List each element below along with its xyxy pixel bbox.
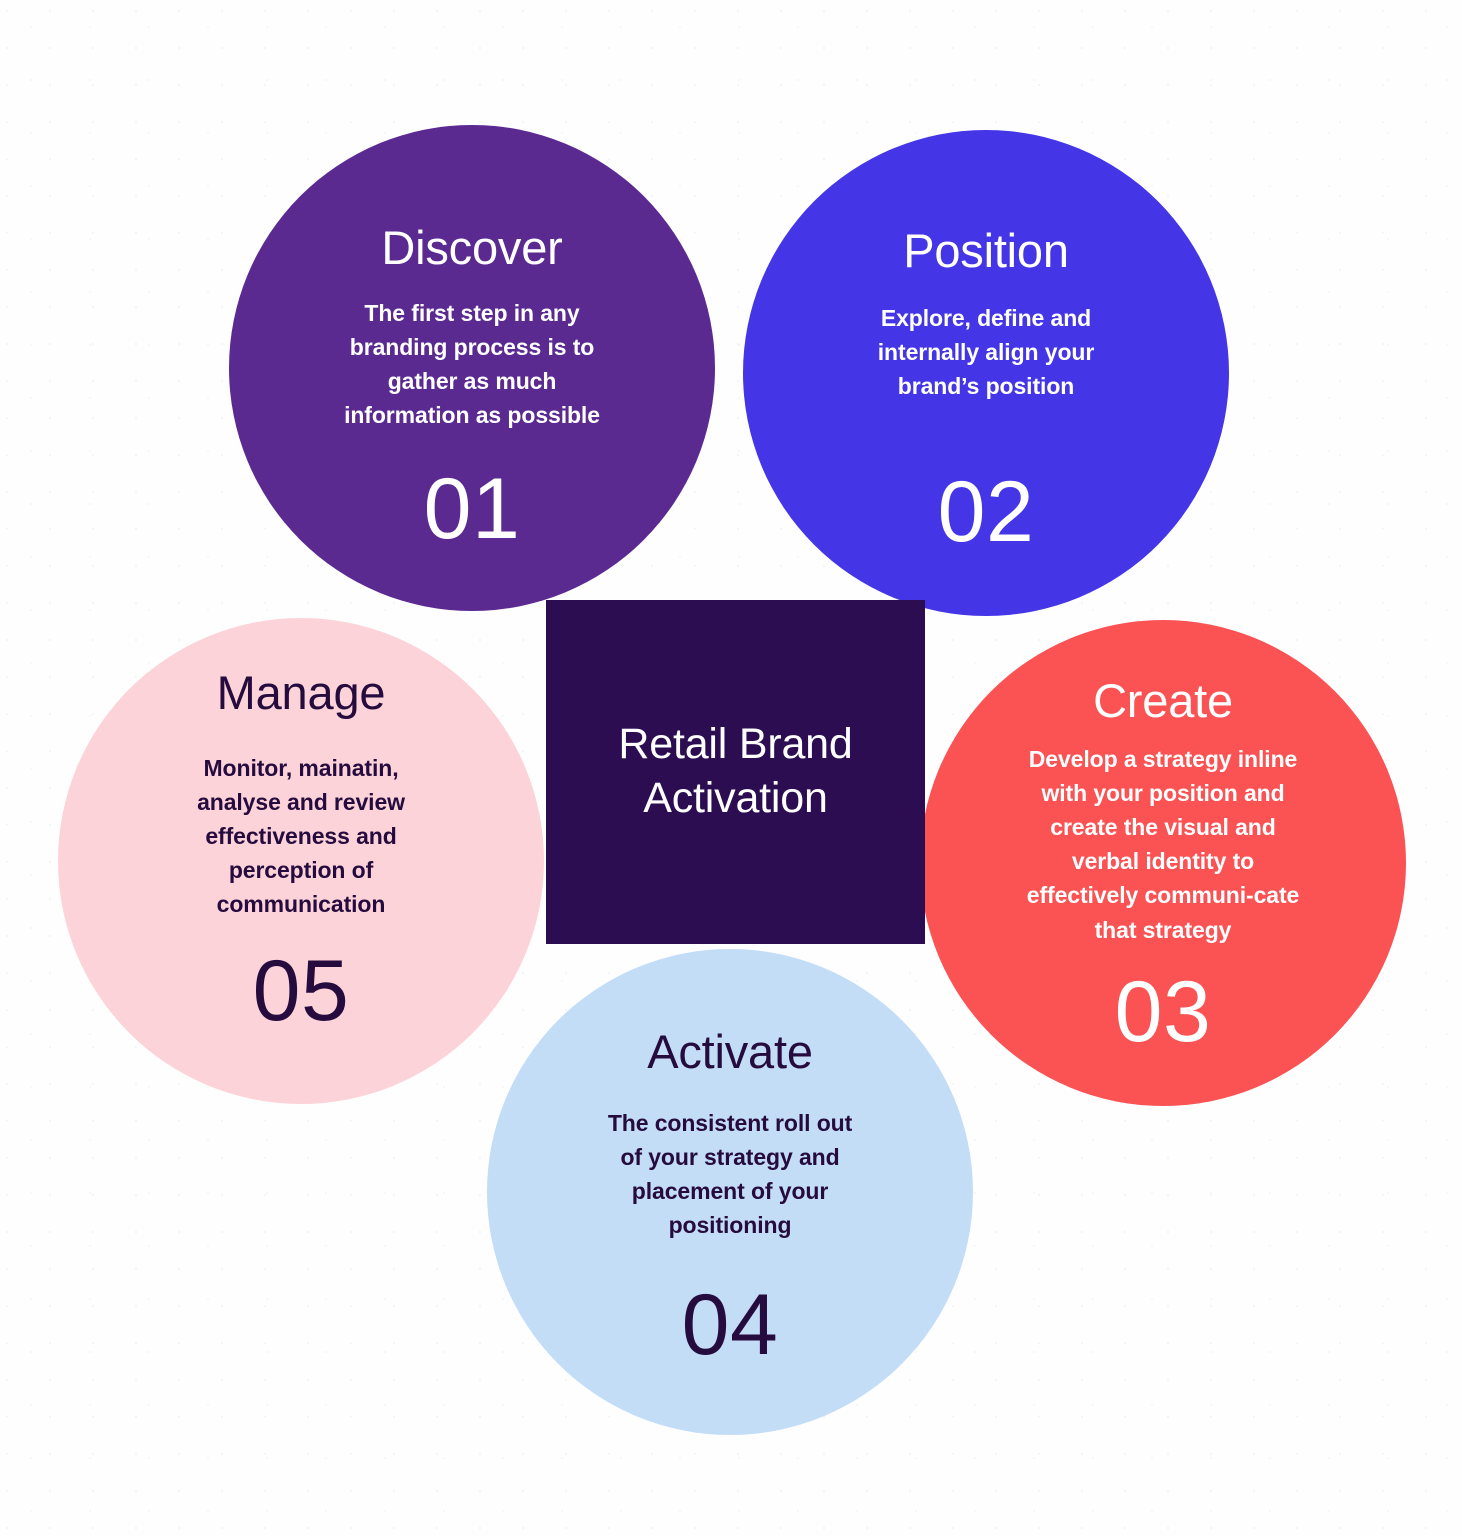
step-number-position: 02 — [938, 469, 1035, 555]
step-description-create: Develop a strategy inline with your posi… — [1018, 742, 1308, 946]
center-block: Retail Brand Activation — [546, 600, 925, 944]
step-circle-activate[interactable]: Activate The consistent roll out of your… — [487, 949, 973, 1435]
step-circle-manage[interactable]: Manage Monitor, mainatin, analyse and re… — [58, 618, 544, 1104]
step-description-manage: Monitor, mainatin, analyse and review ef… — [171, 751, 431, 921]
step-number-manage: 05 — [253, 948, 350, 1034]
step-circle-create[interactable]: Create Develop a strategy inline with yo… — [920, 620, 1406, 1106]
step-description-position: Explore, define and internally align you… — [855, 301, 1117, 403]
step-description-activate: The consistent roll out of your strategy… — [603, 1106, 858, 1242]
step-title-discover: Discover — [381, 223, 562, 272]
step-title-manage: Manage — [217, 668, 386, 717]
step-number-activate: 04 — [682, 1282, 779, 1368]
step-circle-position[interactable]: Position Explore, define and internally … — [743, 130, 1229, 616]
step-number-create: 03 — [1115, 969, 1212, 1055]
infographic-canvas: Discover The first step in any branding … — [0, 0, 1462, 1536]
step-circle-discover[interactable]: Discover The first step in any branding … — [229, 125, 715, 611]
step-description-discover: The first step in any branding process i… — [322, 296, 622, 432]
step-title-create: Create — [1093, 676, 1233, 725]
step-title-activate: Activate — [647, 1027, 813, 1076]
step-title-position: Position — [903, 226, 1069, 275]
step-number-discover: 01 — [424, 466, 521, 552]
center-title: Retail Brand Activation — [576, 718, 896, 826]
